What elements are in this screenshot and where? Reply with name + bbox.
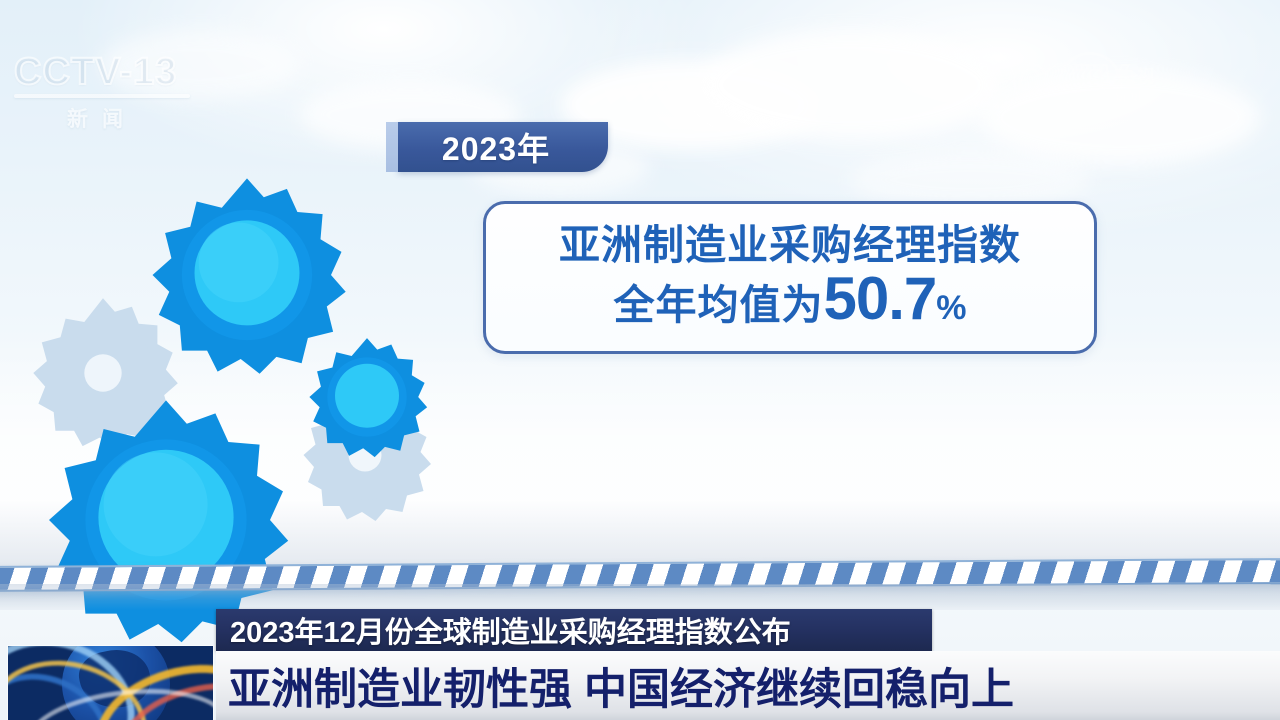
watermark-cn-text: 央视 [1118,62,1156,87]
cloud-shape [700,30,1000,140]
watermark-en-text: 新闻 [1114,86,1142,105]
lower-third-subtitle-bar: 2023年12月份全球制造业采购经理指数公布 [216,609,932,651]
statistic-number: 50.7 [823,271,936,327]
channel-logo-rule [14,94,190,98]
channel-logo: CCTV-13 新闻 [14,52,190,130]
statistic-title: 亚洲制造业采购经理指数 [559,220,1021,270]
lower-third-headline: 亚洲制造业韧性强 中国经济继续回稳向上 [216,655,1014,717]
lower-third-headline-bar: 亚洲制造业韧性强 中国经济继续回稳向上 [216,651,1280,720]
statistic-prefix: 全年均值为 [613,277,823,333]
statistic-unit: % [936,280,966,336]
lower-third-subtitle: 2023年12月份全球制造业采购经理指数公布 [216,609,791,651]
corner-watermark: CCTV 央视 新闻 [1002,52,1192,122]
stripe-shadow [0,584,1280,610]
year-badge: 2023年 [398,122,608,172]
channel-logo-text: CCTV-13 [14,52,190,92]
statistic-value-row: 全年均值为 50.7 % [613,271,966,336]
statistic-panel: 亚洲制造业采购经理指数 全年均值为 50.7 % [483,201,1097,354]
channel-logo-subtext: 新闻 [14,103,190,133]
year-badge-label: 2023年 [442,124,564,170]
gear-icon [303,333,431,461]
broadcast-screen: CCTV-13 新闻 CCTV 央视 新闻 2023年 亚洲制造业采购经理指数 … [0,0,1280,720]
news-thumbnail [8,646,213,720]
